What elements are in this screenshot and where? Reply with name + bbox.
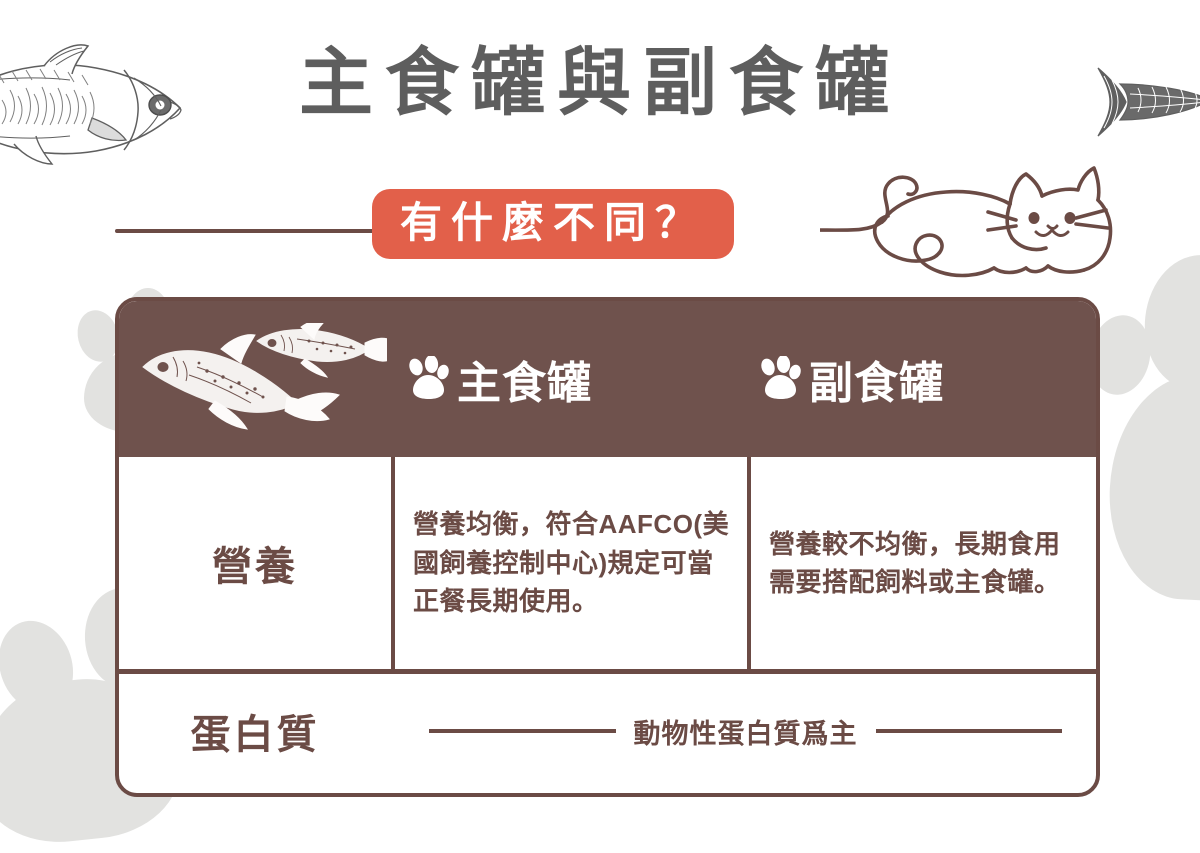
fish-illustration-right-icon bbox=[1060, 50, 1200, 165]
table-header-col-sub-label: 副食罐 bbox=[809, 347, 944, 411]
paw-icon-main bbox=[405, 356, 451, 402]
paw-icon-sub bbox=[757, 356, 803, 402]
cell-protein-text: 動物性蛋白質爲主 bbox=[634, 712, 858, 751]
table-row: 營養 營養均衡，符合AAFCO(美國飼養控制中心)規定可當正餐長期使用。 營養較… bbox=[119, 457, 1096, 669]
table-header-col-sub: 副食罐 bbox=[743, 347, 1096, 411]
cell-nutrition-sub: 營養較不均衡，長期食用需要搭配飼料或主食罐。 bbox=[751, 457, 1096, 669]
table-header-corner bbox=[119, 301, 391, 457]
cell-protein-merged: 動物性蛋白質爲主 bbox=[395, 669, 1096, 793]
page-title: 主食罐與副食罐 bbox=[0, 46, 1200, 120]
row-label-protein: 蛋白質 bbox=[119, 669, 391, 793]
row-divider bbox=[119, 669, 1096, 674]
table-header-col-main-label: 主食罐 bbox=[457, 347, 592, 411]
subtitle-row: 有什麼不同？ bbox=[0, 160, 1200, 290]
rule-line-left bbox=[115, 229, 400, 233]
dash-left bbox=[429, 729, 616, 733]
row-label-nutrition: 營養 bbox=[119, 457, 391, 669]
table-header-col-main: 主食罐 bbox=[391, 347, 743, 411]
table-header-row: 主食罐 副食罐 bbox=[119, 301, 1096, 457]
subtitle-badge: 有什麼不同？ bbox=[372, 189, 734, 259]
two-fish-illustration-icon bbox=[137, 323, 387, 448]
header: 主食罐與副食罐 bbox=[0, 16, 1200, 166]
table-row: 蛋白質 動物性蛋白質爲主 bbox=[119, 669, 1096, 793]
comparison-table: 主食罐 副食罐 營養 bbox=[115, 297, 1100, 797]
line-art-cat-icon bbox=[820, 160, 1120, 295]
cell-nutrition-main: 營養均衡，符合AAFCO(美國飼養控制中心)規定可當正餐長期使用。 bbox=[395, 457, 747, 669]
infographic-canvas: 主食罐與副食罐 有什麼不同？ bbox=[0, 0, 1200, 853]
dash-right bbox=[876, 729, 1063, 733]
